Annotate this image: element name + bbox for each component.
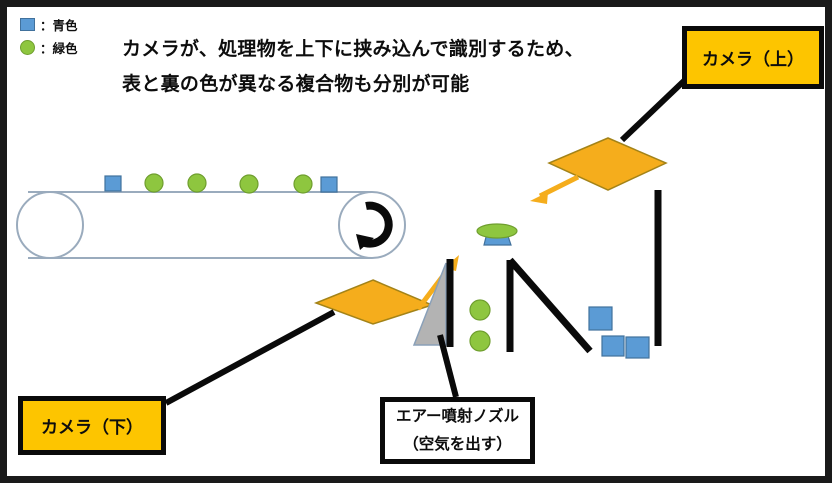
belt-item-blue-square [321, 177, 337, 192]
callout-air-nozzle[interactable]: エアー噴射ノズル （空気を出す） [380, 397, 535, 464]
sorted-green-circle [470, 331, 490, 351]
sorted-blue-square [626, 337, 649, 358]
callout-camera-top[interactable]: カメラ（上） [682, 26, 824, 89]
conveyor-items [105, 174, 337, 193]
conveyor-belt [17, 192, 405, 258]
belt-item-green-circle [240, 175, 258, 193]
green-bin-items [470, 300, 490, 351]
camera-bottom-leader-line [166, 312, 334, 403]
callout-camera-bottom-label: カメラ（下） [41, 413, 143, 438]
legend-label-blue: ：青色 [40, 15, 78, 34]
callout-camera-top-label: カメラ（上） [702, 45, 804, 70]
callout-camera-bottom[interactable]: カメラ（下） [18, 396, 166, 455]
blue-bin-items [589, 307, 649, 358]
callout-nozzle-label-line-1: エアー噴射ノズル [396, 409, 519, 425]
belt-item-blue-square [105, 176, 121, 191]
camera-bottom-shape [316, 280, 432, 324]
sorted-green-circle [470, 300, 490, 320]
callout-nozzle-label-line-2: （空気を出す） [403, 437, 512, 453]
green-circle-icon [20, 40, 35, 55]
conveyor-pulley-left [17, 192, 83, 258]
headline-line-2: 表と裏の色が異なる複合物も分別が可能 [122, 75, 682, 94]
headline: カメラが、処理物を上下に挟み込んで識別するため、 表と裏の色が異なる複合物も分別… [122, 40, 682, 94]
belt-item-green-circle [145, 174, 163, 192]
belt-item-green-circle [294, 175, 312, 193]
legend-label-green: ：緑色 [40, 38, 78, 57]
camera-top-view-arrow [530, 177, 578, 204]
composite-object [477, 224, 517, 245]
sorted-blue-square [602, 336, 624, 356]
bin-dividers [450, 190, 658, 352]
divider-bar-mid-diagonal [510, 260, 590, 351]
blue-square-icon [20, 18, 35, 31]
headline-line-1: カメラが、処理物を上下に挟み込んで識別するため、 [122, 40, 682, 59]
diagram-canvas: ：青色 ：緑色 カメラが、処理物を上下に挟み込んで識別するため、 表と裏の色が異… [0, 0, 832, 483]
legend-item-blue: ：青色 [16, 14, 166, 35]
sorted-blue-square [589, 307, 612, 330]
belt-item-green-circle [188, 174, 206, 192]
